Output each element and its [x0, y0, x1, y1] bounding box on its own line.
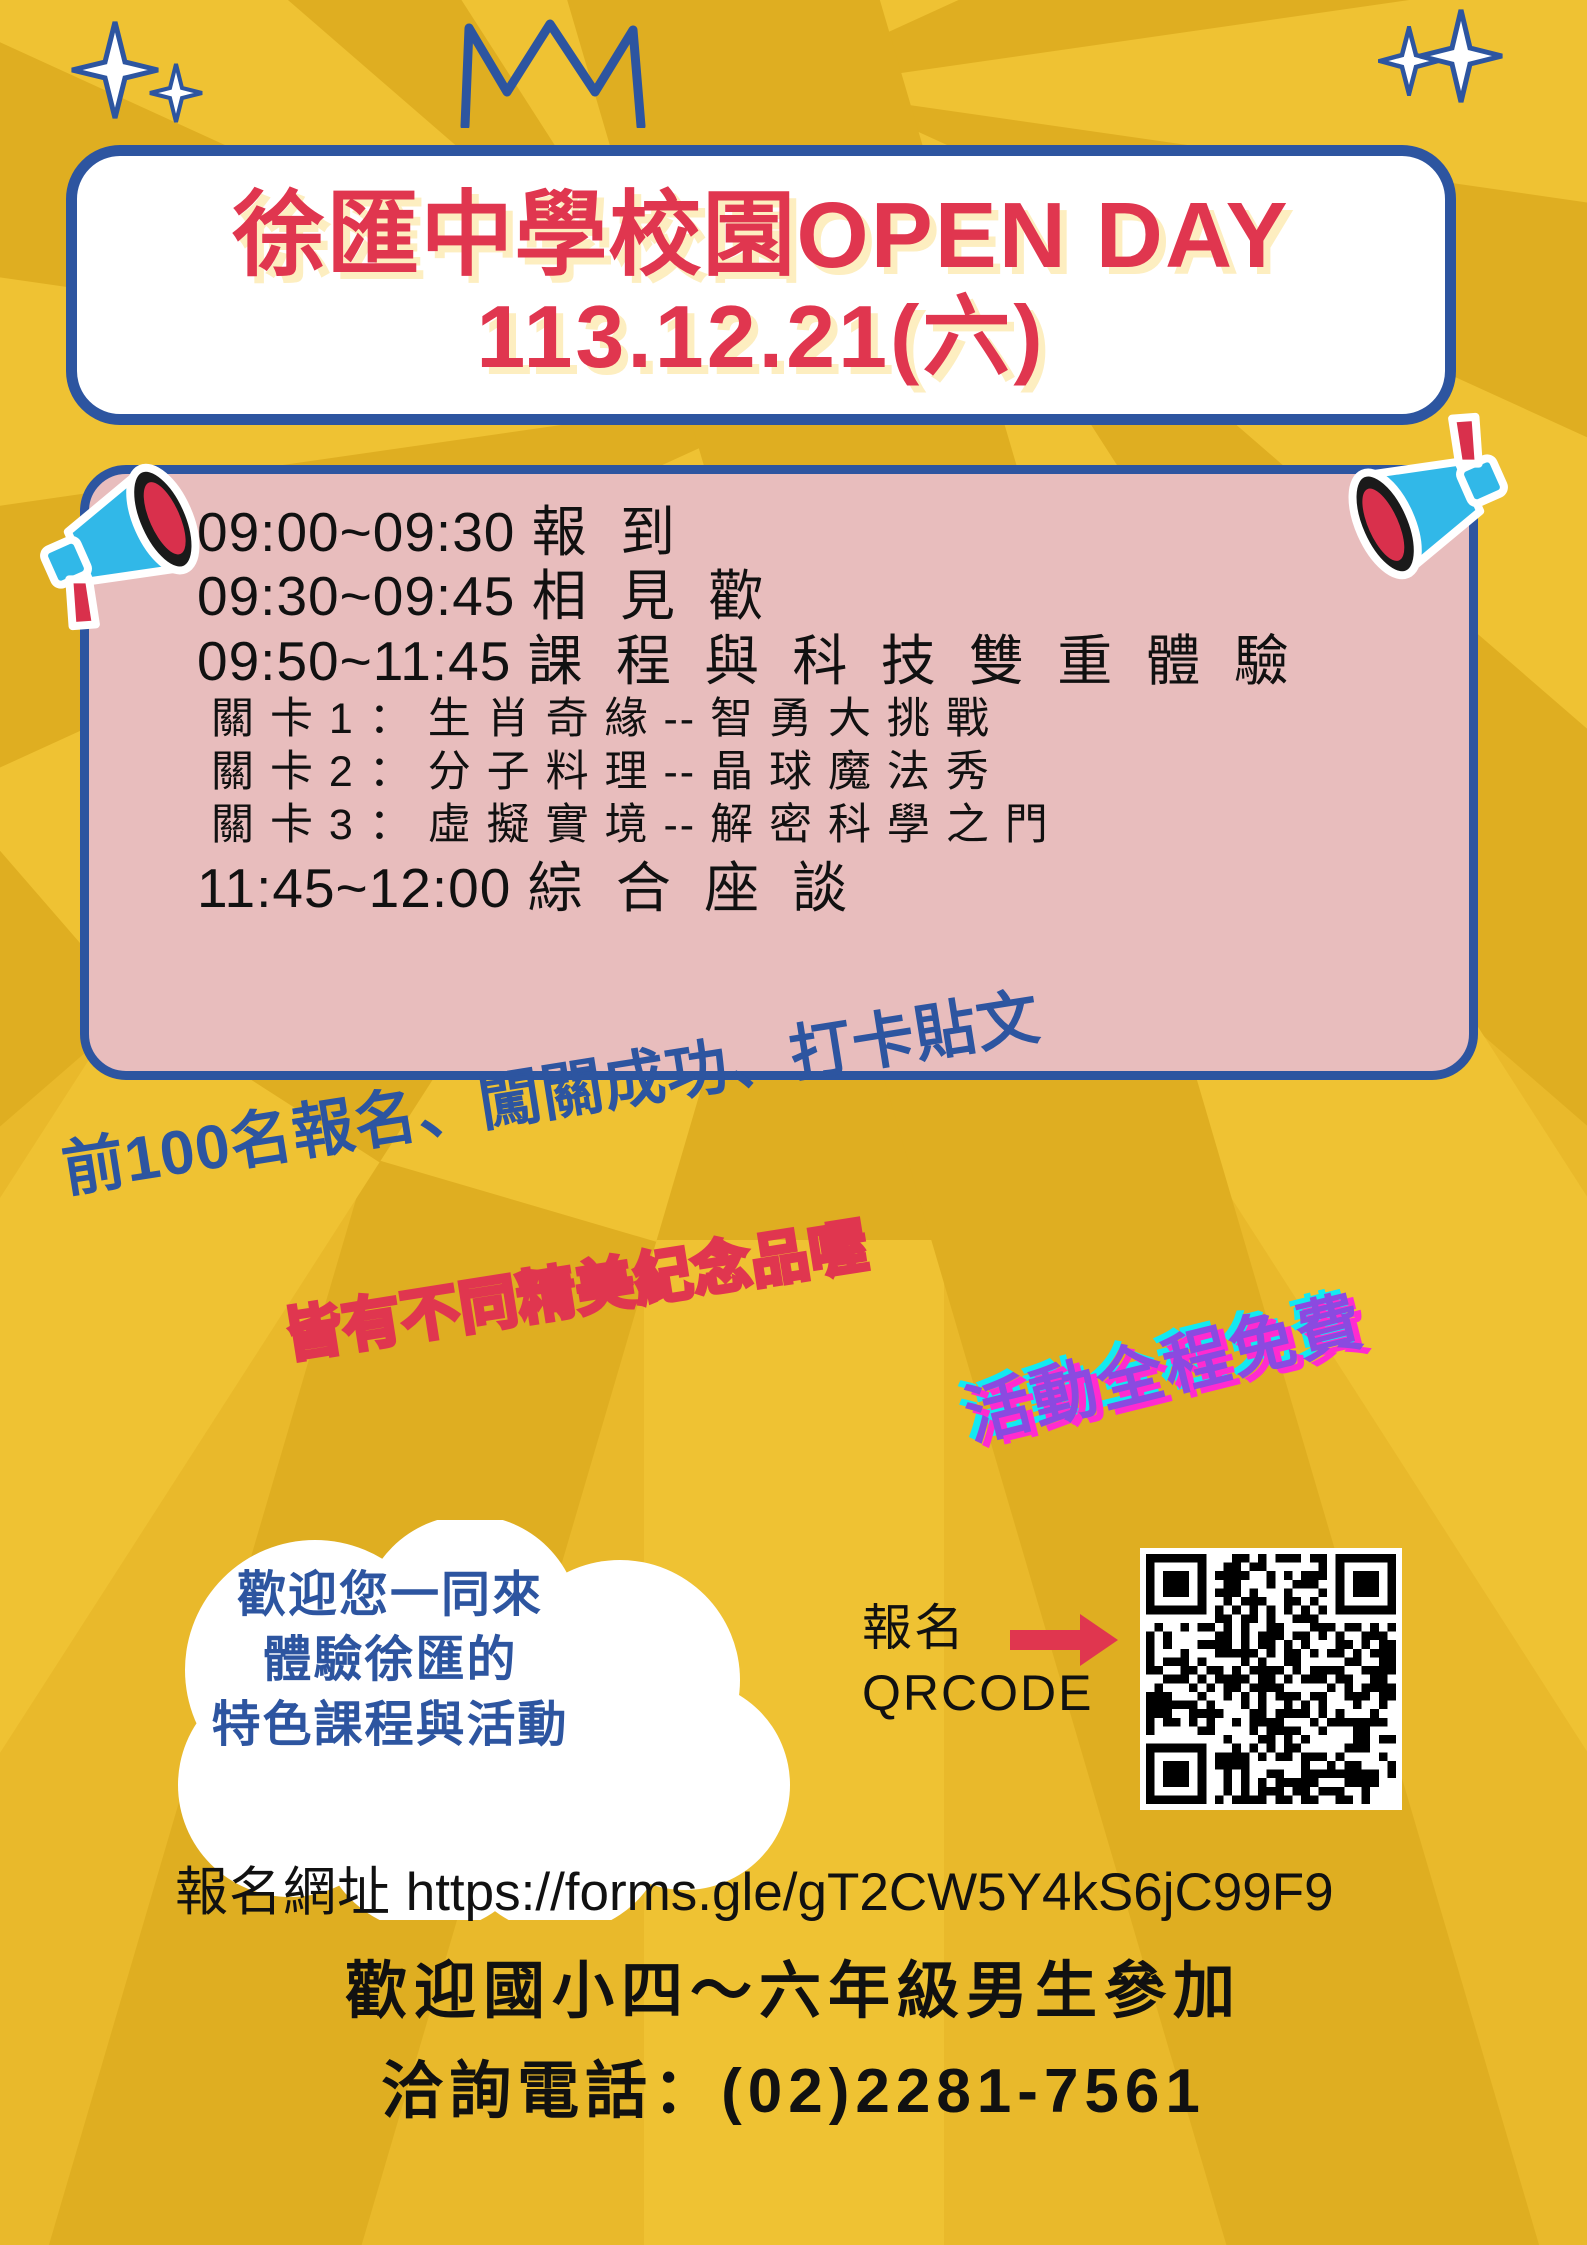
schedule-label: 報 到	[532, 501, 684, 563]
registration-url-label: 報名網址	[175, 1863, 391, 1922]
cloud-line-3: 特色課程與活動	[150, 1693, 630, 1758]
schedule-label: 相 見 歡	[532, 565, 773, 627]
schedule-time: 09:00~09:30	[197, 501, 515, 563]
schedule-row: 11:45~12:00 綜 合 座 談	[197, 856, 1469, 920]
cloud-line-1: 歡迎您一同來	[150, 1563, 630, 1628]
qr-code-icon[interactable]	[1140, 1548, 1402, 1810]
contact-phone-line: 洽詢電話：(02)2281-7561	[0, 2040, 1587, 2130]
schedule-label: 課 程 與 科 技 雙 重 體 驗	[528, 630, 1298, 692]
schedule-card: 09:00~09:30 報 到 09:30~09:45 相 見 歡 09:50~…	[80, 465, 1478, 1080]
station-item: 關 卡 2 ： 分 子 料 理 -- 晶 球 魔 法 秀	[197, 746, 1469, 799]
title-english: OPEN DAY	[796, 183, 1289, 287]
station-item: 關 卡 1 ： 生 肖 奇 緣 -- 智 勇 大 挑 戰	[197, 693, 1469, 746]
event-date: 113.12.21(六)	[476, 291, 1045, 383]
arrow-right-icon	[1010, 1612, 1120, 1673]
schedule-row: 09:50~11:45 課 程 與 科 技 雙 重 體 驗	[197, 629, 1469, 693]
registration-url[interactable]: https://forms.gle/gT2CW5Y4kS6jC99F9	[406, 1863, 1334, 1922]
schedule-row: 09:30~09:45 相 見 歡	[197, 564, 1469, 628]
registration-url-line: 報名網址 https://forms.gle/gT2CW5Y4kS6jC99F9	[175, 1850, 1334, 1926]
cloud-message: 歡迎您一同來 體驗徐匯的 特色課程與活動	[150, 1563, 630, 1758]
sparkle-icon	[1418, 8, 1504, 104]
cloud-line-2: 體驗徐匯的	[150, 1628, 630, 1693]
sparkle-icon	[70, 20, 160, 120]
sparkle-icon	[148, 62, 204, 124]
schedule-time: 09:50~11:45	[197, 630, 511, 692]
eligibility-line: 歡迎國小四～六年級男生參加	[0, 1940, 1587, 2030]
title-card: 徐匯中學校園OPEN DAY 113.12.21(六)	[66, 145, 1456, 425]
schedule-label: 綜 合 座 談	[528, 857, 857, 919]
page-title: 徐匯中學校園OPEN DAY	[232, 187, 1289, 285]
station-item: 關 卡 3 ： 虛 擬 實 境 -- 解 密 科 學 之 門	[197, 799, 1469, 852]
title-chinese: 徐匯中學校園	[232, 183, 796, 287]
schedule-time: 11:45~12:00	[197, 857, 511, 919]
crown-icon	[455, 18, 665, 133]
schedule-time: 09:30~09:45	[197, 565, 515, 627]
schedule-row: 09:00~09:30 報 到	[197, 500, 1469, 564]
